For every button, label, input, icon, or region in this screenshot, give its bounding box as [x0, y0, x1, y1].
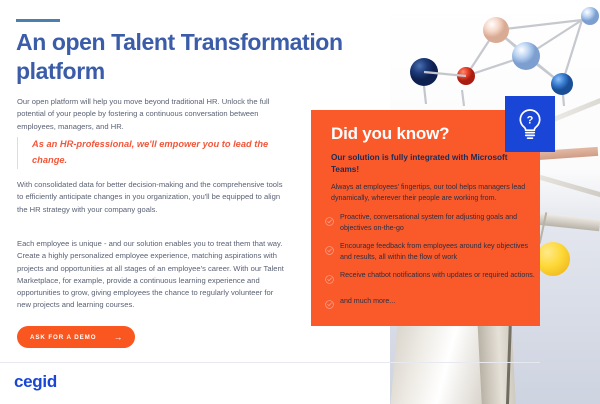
list-item: Encourage feedback from employees around…: [317, 241, 540, 263]
yellow-sphere: [536, 242, 570, 276]
panel-subtitle: Our solution is fully integrated with Mi…: [331, 152, 527, 175]
check-circle-icon: [325, 242, 334, 260]
node-peach: [483, 17, 509, 43]
panel-lead-text: Always at employees' fingertips, our too…: [331, 182, 531, 205]
intro-paragraph: Our open platform will help you move bey…: [17, 96, 285, 133]
svg-text:?: ?: [527, 115, 534, 127]
list-item: Receive chatbot notifications with updat…: [317, 270, 540, 289]
list-item-label: Receive chatbot notifications with updat…: [340, 270, 536, 281]
lightbulb-question-icon: ?: [515, 107, 545, 141]
list-item: Proactive, conversational system for adj…: [317, 212, 540, 234]
cegid-logo: cegid: [14, 372, 57, 392]
body-paragraph-2: With consolidated data for better decisi…: [17, 179, 285, 216]
node-lightblue: [512, 42, 540, 70]
list-item-label: and much more...: [340, 296, 536, 307]
list-item: and much more...: [317, 296, 540, 315]
list-item-label: Encourage feedback from employees around…: [340, 241, 536, 263]
panel-title: Did you know?: [331, 124, 449, 144]
cta-label: ASK FOR A DEMO: [30, 334, 96, 341]
check-circle-icon: [325, 271, 334, 289]
list-item-label: Proactive, conversational system for adj…: [340, 212, 536, 234]
arrow-right-icon: →: [113, 332, 122, 342]
body-paragraph-3: Each employee is unique - and our soluti…: [17, 238, 285, 312]
page-title: An open Talent Transformation platform: [16, 28, 346, 85]
check-circle-icon: [325, 296, 334, 314]
panel-bullet-list: Proactive, conversational system for adj…: [317, 212, 540, 321]
slide-root: An open Talent Transformation platform O…: [0, 0, 600, 404]
ask-for-a-demo-button[interactable]: ASK FOR A DEMO →: [17, 326, 135, 348]
lightbulb-question-badge: ?: [505, 96, 555, 152]
check-circle-icon: [325, 213, 334, 231]
accent-rule: [16, 19, 60, 22]
node-blue: [551, 73, 573, 95]
pull-quote: As an HR-professional, we'll empower you…: [17, 137, 287, 169]
node-lightblue-2: [581, 7, 599, 25]
footer-divider: [0, 362, 540, 363]
